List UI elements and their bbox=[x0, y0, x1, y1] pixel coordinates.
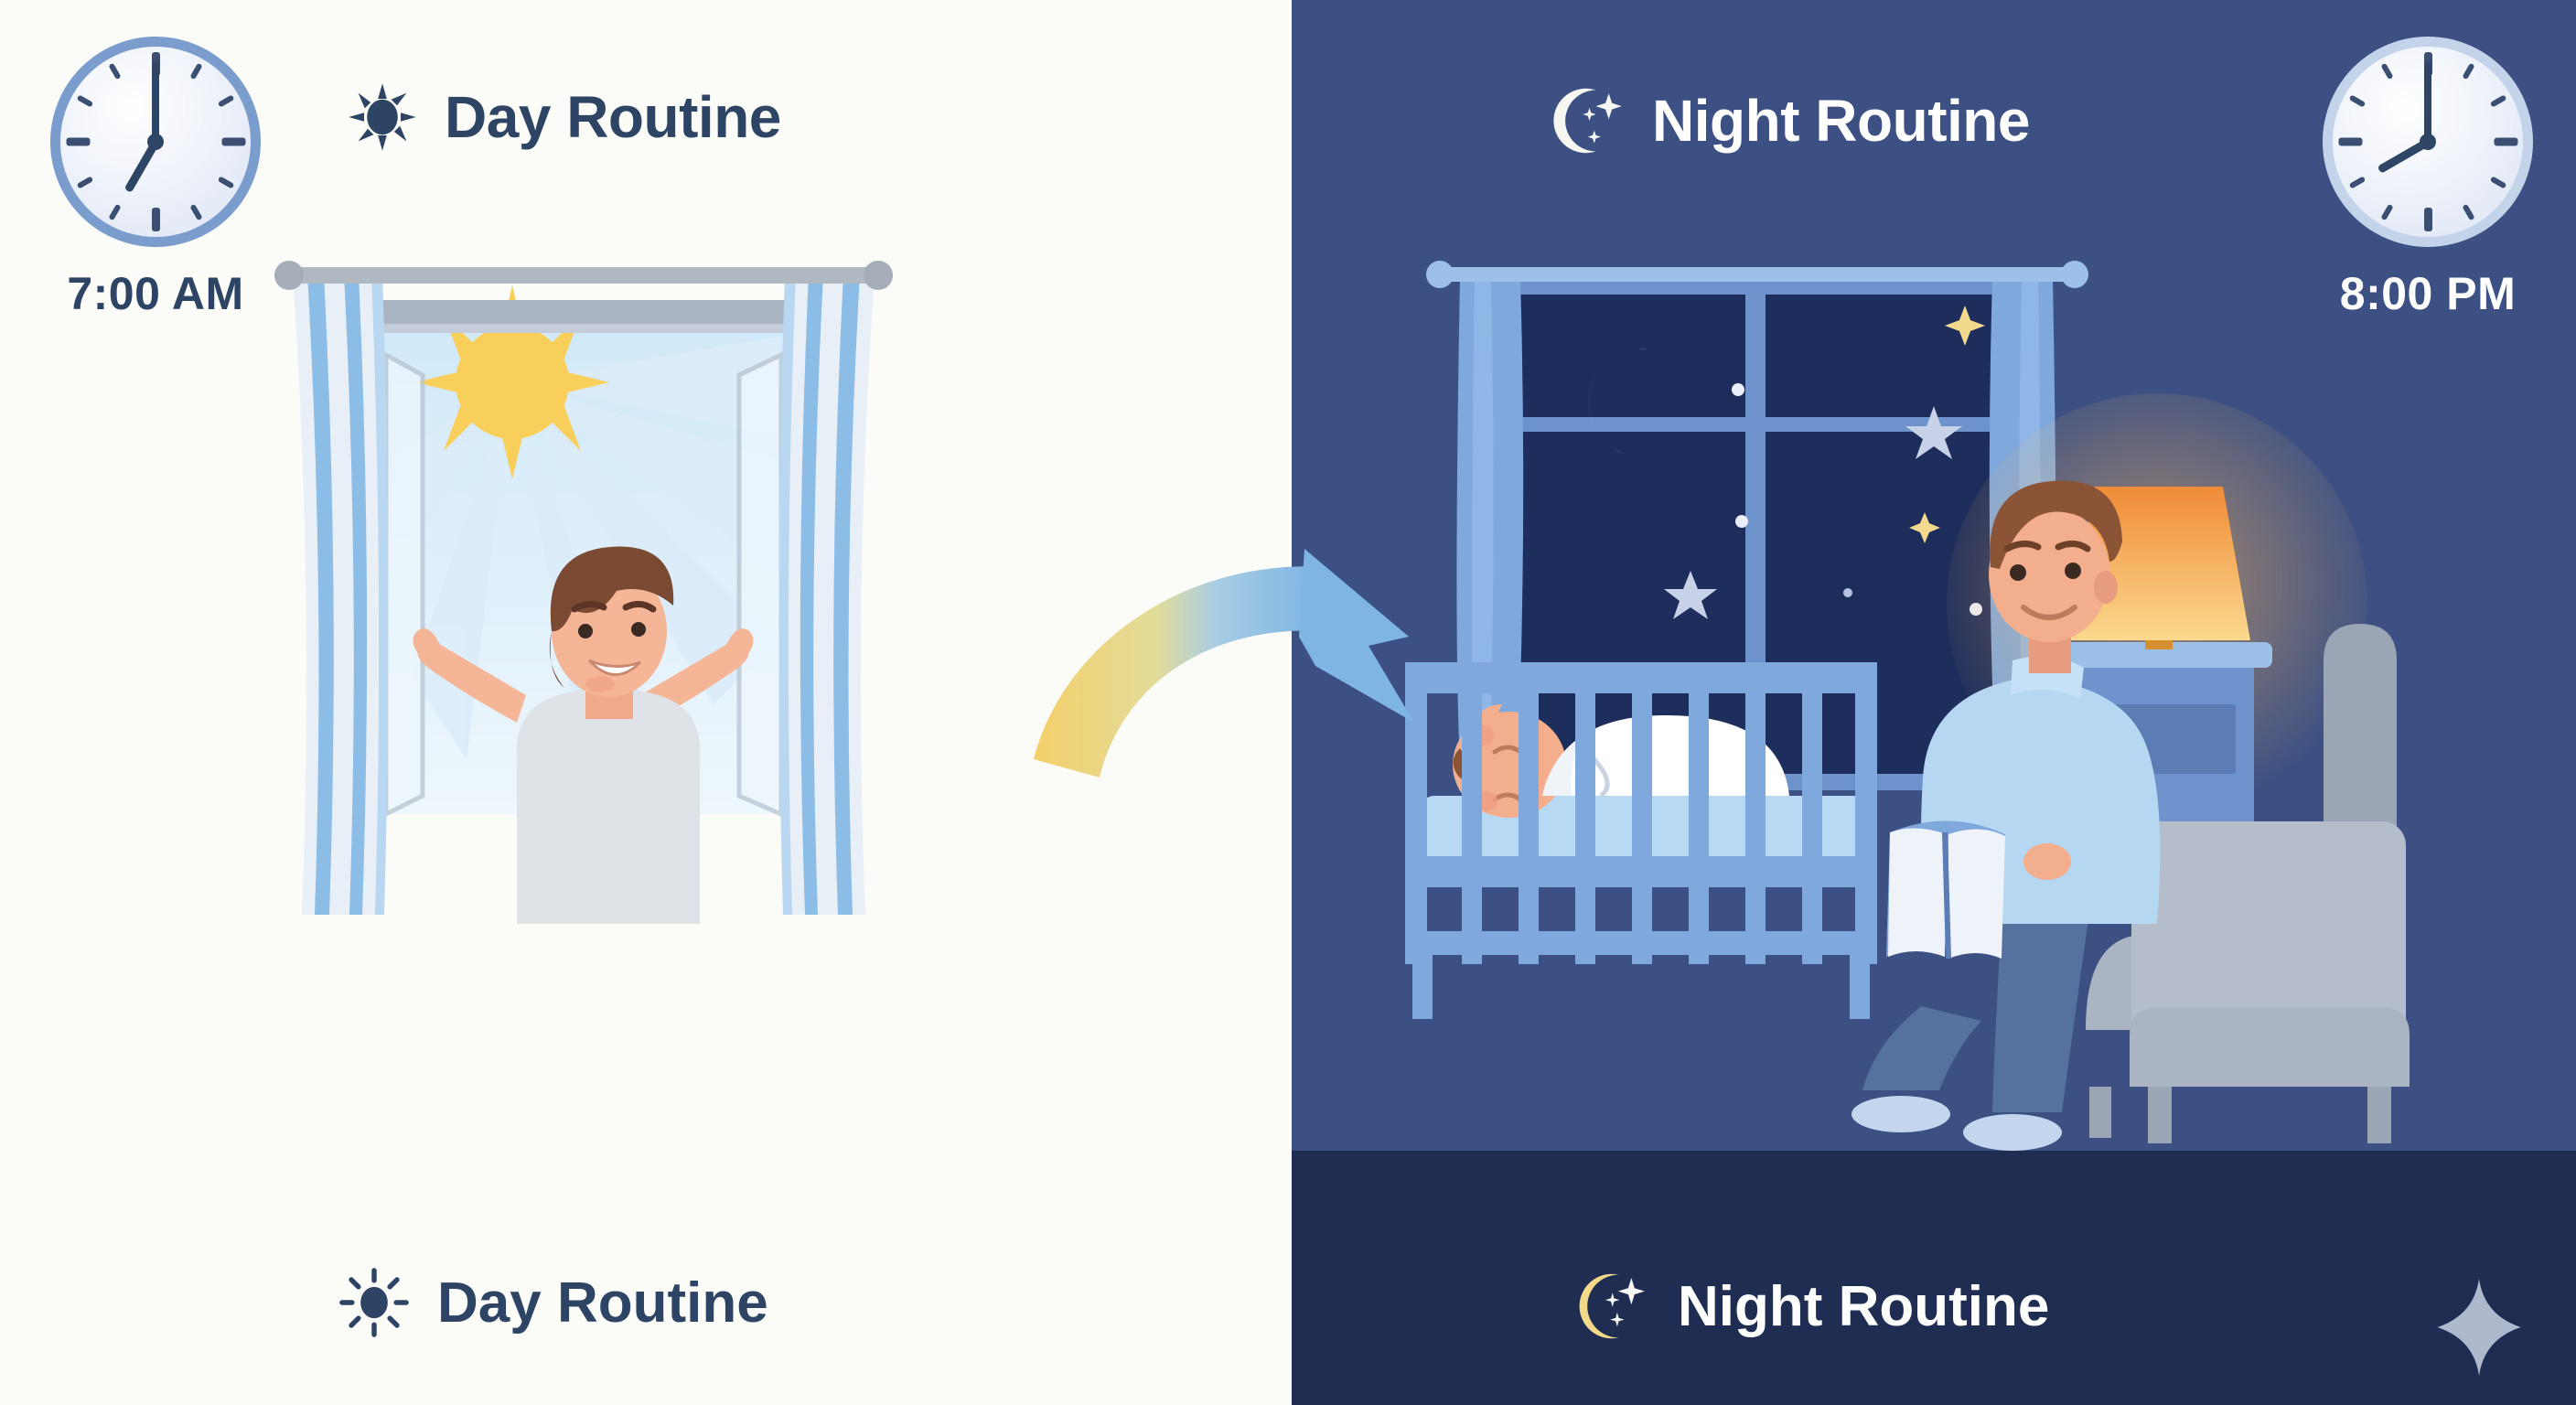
clock-minute-hand bbox=[2424, 61, 2431, 142]
night-footer-title: Night Routine bbox=[1678, 1274, 2049, 1339]
sun-outline-icon bbox=[338, 1267, 410, 1338]
analog-clock-icon bbox=[50, 37, 261, 247]
day-footer: Day Routine bbox=[338, 1267, 768, 1338]
night-header-title: Night Routine bbox=[1652, 87, 2030, 155]
sparkle-icon bbox=[2435, 1277, 2523, 1378]
curtain-rod bbox=[284, 267, 884, 284]
day-header: Day Routine bbox=[346, 80, 781, 154]
window-frame-top bbox=[382, 300, 785, 324]
day-time-label: 7:00 AM bbox=[67, 267, 243, 320]
sun-icon bbox=[346, 80, 419, 154]
day-clock-block: 7:00 AM bbox=[37, 37, 274, 320]
curtain-rod bbox=[1436, 267, 2077, 282]
day-header-title: Day Routine bbox=[445, 83, 781, 151]
open-window-pane-left bbox=[386, 355, 423, 814]
day-footer-title: Day Routine bbox=[437, 1271, 768, 1335]
left-curtain bbox=[293, 274, 389, 915]
moon-stars-icon bbox=[1546, 80, 1626, 161]
night-footer: Night Routine bbox=[1572, 1267, 2049, 1346]
slippers bbox=[1851, 1096, 1950, 1132]
illustration-canvas: 7:00 AM Day Routine bbox=[0, 0, 2576, 1405]
clock-pivot bbox=[147, 134, 164, 150]
clock-minute-hand bbox=[152, 61, 159, 142]
open-window-pane-right bbox=[739, 355, 781, 814]
day-to-night-arrow bbox=[1025, 549, 1555, 823]
moon-stars-gold-icon bbox=[1572, 1267, 1650, 1346]
clock-pivot bbox=[2420, 134, 2436, 150]
right-curtain bbox=[778, 274, 875, 915]
open-book bbox=[1886, 820, 2005, 959]
person-opening-curtains-scene bbox=[284, 247, 1061, 924]
analog-clock-icon bbox=[2323, 37, 2533, 247]
night-header: Night Routine bbox=[1546, 80, 2030, 161]
